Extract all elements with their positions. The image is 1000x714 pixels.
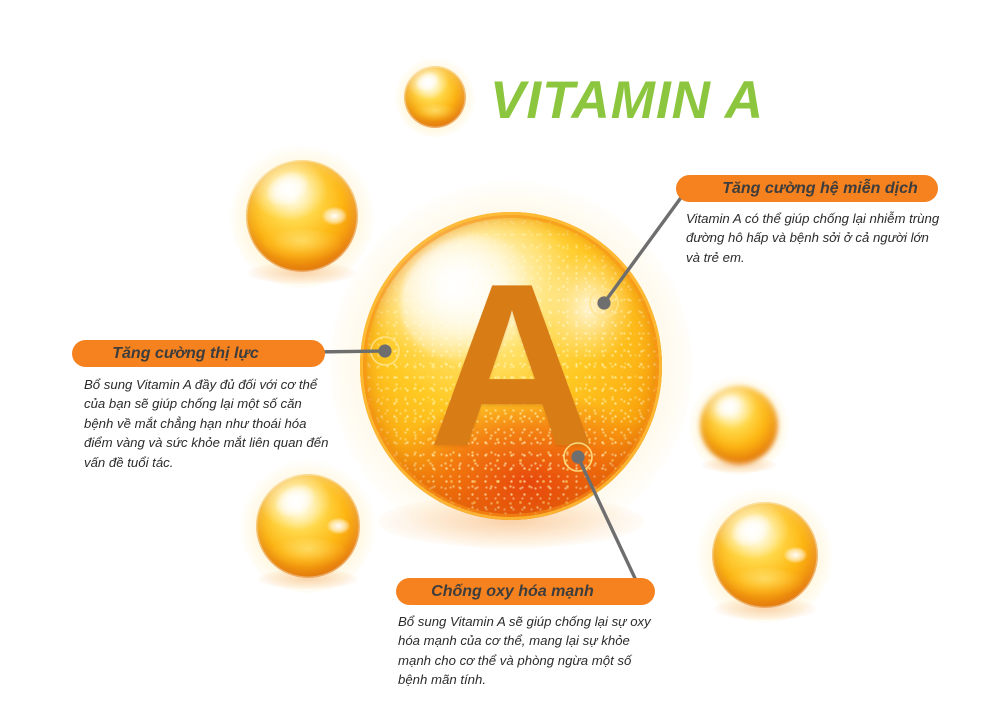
callout-body-vision: Bổ sung Vitamin A đầy đủ đối với cơ thể … [84,375,334,472]
callout-heading-vision[interactable]: Tăng cường thị lực [72,340,325,367]
callout-heading-immune[interactable]: Tăng cường hệ miễn dịch [676,175,938,202]
connector-dot-capsule-immune [597,296,610,309]
connector-dot-capsule-antioxidant [571,450,584,463]
infographic-canvas: VITAMIN A [0,0,1000,714]
connector-dot-capsule-vision [378,344,391,357]
connector-line-immune [604,188,688,303]
callout-body-antioxidant: Bổ sung Vitamin A sẽ giúp chống lại sự o… [398,612,654,690]
connector-line-antioxidant [578,457,641,591]
callout-body-immune: Vitamin A có thể giúp chống lại nhiễm tr… [686,209,942,267]
callout-heading-antioxidant[interactable]: Chống oxy hóa mạnh [396,578,655,605]
